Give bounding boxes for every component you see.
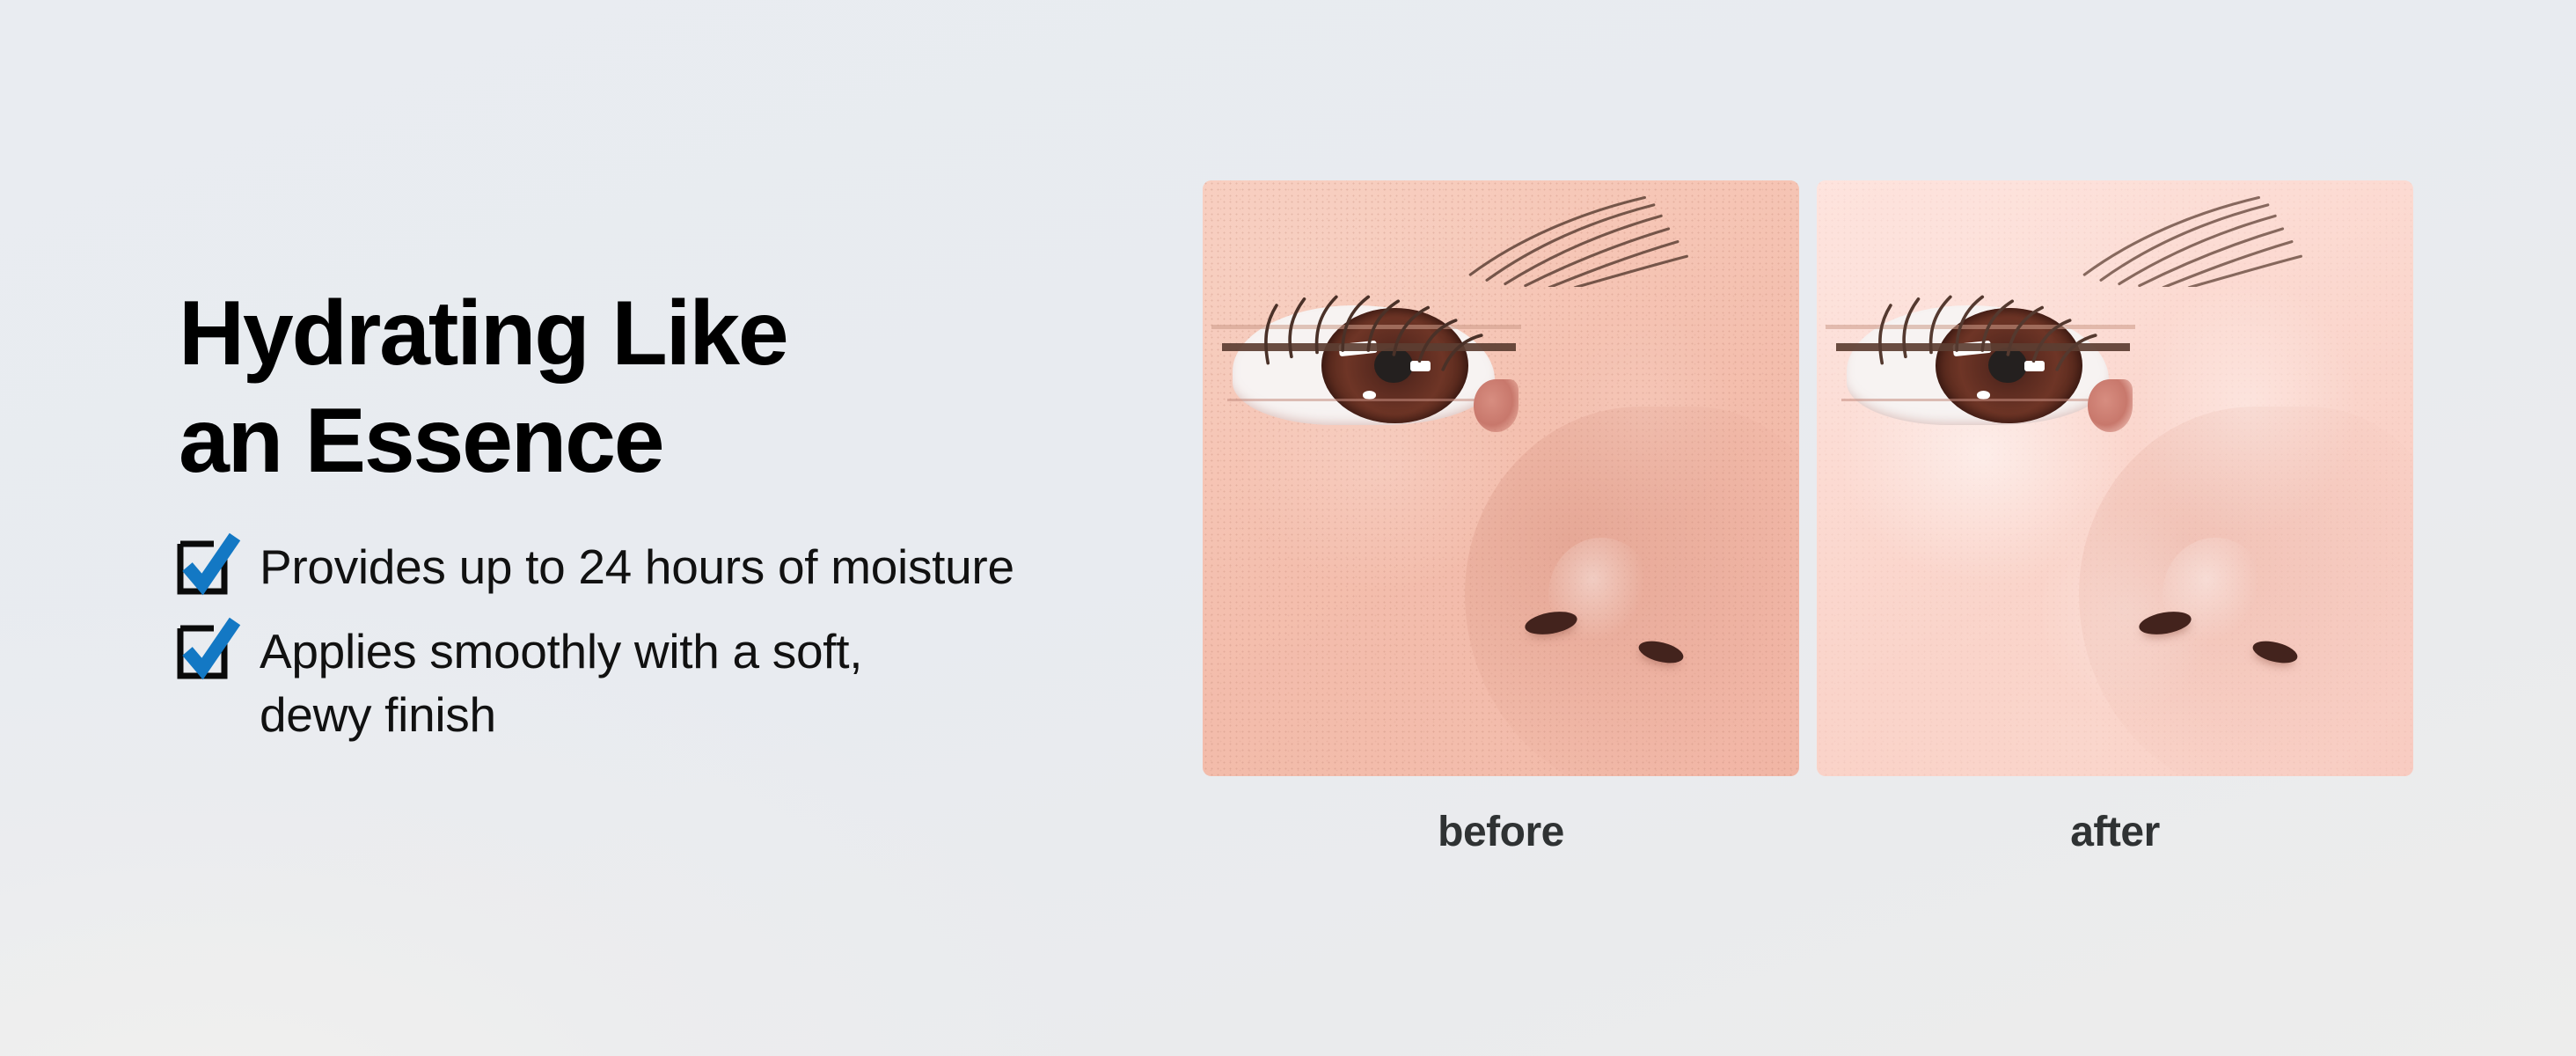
product-benefit-banner: Hydrating Like an Essence Provides up to…: [0, 0, 2576, 1056]
list-item: Provides up to 24 hours of moisture: [179, 535, 1111, 598]
face-illustration: [1203, 180, 1799, 776]
comparison-item-before: before: [1203, 180, 1799, 856]
feature-list: Provides up to 24 hours of moisture Appl…: [179, 535, 1111, 746]
list-item-label: Applies smoothly with a soft, dewy finis…: [260, 620, 862, 746]
comparison-item-after: after: [1817, 180, 2413, 856]
eye: [1233, 305, 1495, 424]
after-photo: [1817, 180, 2413, 776]
before-after-comparison: before: [1203, 180, 2413, 856]
eye: [1847, 305, 2109, 424]
nose-highlight: [2163, 538, 2268, 652]
eyelashes: [1831, 265, 2151, 358]
copy-block: Hydrating Like an Essence Provides up to…: [179, 280, 1111, 746]
nose-highlight: [1548, 538, 1654, 652]
before-photo: [1203, 180, 1799, 776]
eyelashes: [1217, 265, 1537, 358]
list-item-label: Provides up to 24 hours of moisture: [260, 535, 1014, 598]
checked-checkbox-icon: [179, 627, 228, 676]
face-illustration: [1817, 180, 2413, 776]
after-caption: after: [2070, 808, 2160, 856]
page-title: Hydrating Like an Essence: [179, 280, 1111, 495]
before-caption: before: [1438, 808, 1564, 856]
list-item: Applies smoothly with a soft, dewy finis…: [179, 620, 1111, 746]
checked-checkbox-icon: [179, 542, 228, 591]
